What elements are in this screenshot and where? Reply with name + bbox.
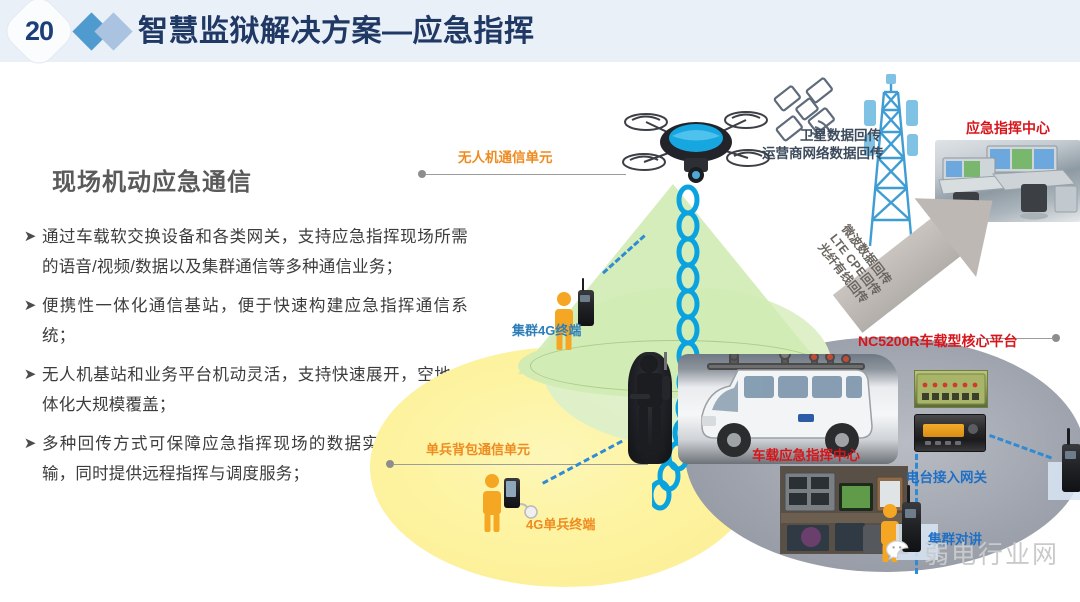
device-screen bbox=[905, 509, 917, 518]
label-uav-unit: 无人机通信单元 bbox=[458, 146, 553, 166]
bullet-arrow-icon: ➤ bbox=[18, 360, 42, 390]
label-core-platform: NC5200R车载型核心平台 bbox=[858, 331, 1017, 351]
base-radio-photo bbox=[914, 414, 986, 452]
label-vehicle-command-center: 车载应急指挥中心 bbox=[752, 444, 860, 464]
watermark: 弱电行业网 bbox=[886, 535, 1059, 571]
device-screen bbox=[1065, 451, 1077, 460]
ptt-radio-upper bbox=[1062, 444, 1080, 492]
bullet-arrow-icon: ➤ bbox=[18, 429, 42, 459]
wechat-icon bbox=[886, 540, 916, 566]
slide-header: 20 智慧监狱解决方案—应急指挥 bbox=[0, 0, 1080, 62]
diamond-icon-secondary bbox=[94, 12, 132, 50]
slide-root: 20 智慧监狱解决方案—应急指挥 现场机动应急通信 ➤ 通过车载软交换设备和各类… bbox=[0, 0, 1080, 602]
leader-dot-backpack bbox=[386, 460, 394, 468]
label-radio-access-gateway: 电台接入网关 bbox=[906, 466, 987, 486]
antenna-icon bbox=[1067, 428, 1069, 445]
label-cluster-4g-terminal: 集群4G终端 bbox=[512, 320, 581, 339]
label-soldier-backpack-unit: 单兵背包通信单元 bbox=[426, 439, 530, 458]
person-4g-terminal bbox=[480, 474, 504, 532]
device-screen bbox=[506, 481, 516, 497]
page-title: 智慧监狱解决方案—应急指挥 bbox=[138, 10, 535, 54]
bullet-arrow-icon: ➤ bbox=[18, 291, 42, 321]
label-satellite-backhaul: 卫星数据回传 bbox=[800, 124, 881, 144]
device-screen bbox=[580, 295, 590, 301]
label-4g-terminal: 4G单兵终端 bbox=[526, 514, 595, 533]
network-diagram: 卫星数据回传 运营商网络数据回传 bbox=[330, 62, 1080, 602]
soldier-figure bbox=[628, 352, 672, 464]
label-operator-backhaul: 运营商网络数据回传 bbox=[762, 142, 884, 162]
section-heading: 现场机动应急通信 bbox=[52, 162, 252, 197]
label-command-center: 应急指挥中心 bbox=[966, 118, 1050, 138]
antenna-icon bbox=[907, 485, 909, 503]
chain-link-icon bbox=[652, 184, 722, 514]
equipment-rack-photo bbox=[914, 370, 988, 408]
leader-line-uav bbox=[426, 174, 626, 175]
watermark-text: 弱电行业网 bbox=[924, 535, 1059, 571]
leader-line-backpack bbox=[394, 464, 648, 465]
leader-dot-uav bbox=[418, 170, 426, 178]
slide-number-label: 20 bbox=[12, 4, 66, 58]
drone-icon bbox=[622, 100, 770, 192]
bullet-arrow-icon: ➤ bbox=[18, 222, 42, 252]
